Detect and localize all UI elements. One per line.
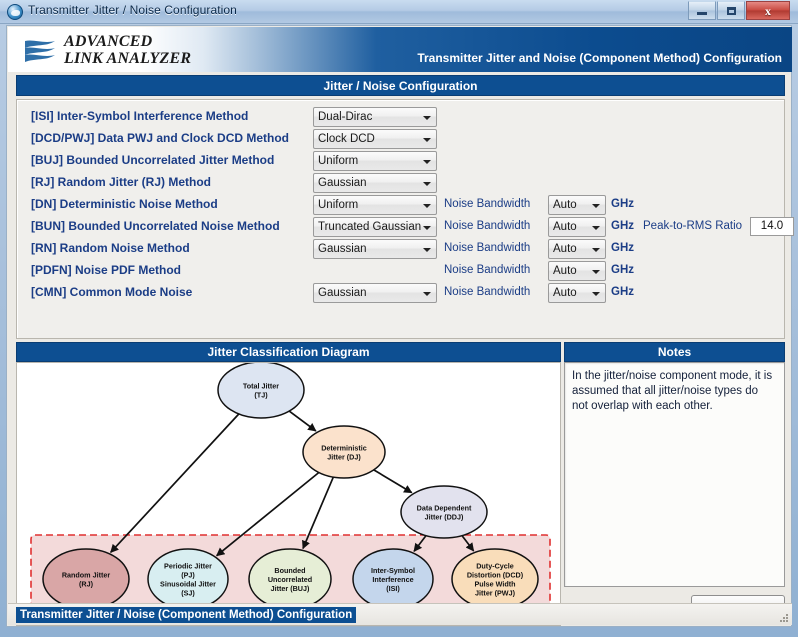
jitter-noise-form-panel: [ISI] Inter-Symbol Interference MethodDu… — [16, 99, 785, 339]
noise-bandwidth-value: Auto — [549, 287, 577, 299]
node-label-line: Duty-Cycle — [476, 562, 514, 571]
header-subtitle: Transmitter Jitter and Noise (Component … — [417, 51, 782, 65]
noise-bandwidth-select[interactable]: Auto — [548, 217, 606, 237]
diagram-node-rj: Random Jitter(RJ) — [43, 549, 129, 609]
method-select[interactable]: Dual-Dirac — [313, 107, 437, 127]
node-label-line: Random Jitter — [62, 571, 111, 580]
ghz-unit-label: GHz — [611, 286, 634, 298]
chevron-down-icon — [592, 226, 600, 230]
chevron-down-icon — [592, 292, 600, 296]
chevron-down-icon — [423, 182, 431, 186]
form-row-label: [PDFN] Noise PDF Method — [31, 263, 181, 277]
brand-header: ADVANCED LINK ANALYZER Transmitter Jitte… — [8, 27, 792, 72]
method-select-value: Clock DCD — [314, 133, 375, 145]
method-select-value: Truncated Gaussian — [314, 221, 421, 233]
maximize-button[interactable] — [717, 1, 745, 20]
chevron-down-icon — [592, 270, 600, 274]
section-header-notes: Notes — [564, 342, 785, 362]
form-row-label: [RN] Random Noise Method — [31, 241, 190, 255]
noise-bandwidth-label: Noise Bandwidth — [444, 286, 530, 298]
resize-grip[interactable] — [778, 612, 788, 622]
chevron-down-icon — [423, 138, 431, 142]
diagram-node-buj: BoundedUncorrelatedJitter (BUJ) — [249, 549, 331, 609]
close-button[interactable]: x — [746, 1, 790, 20]
ghz-unit-label: GHz — [611, 264, 634, 276]
form-row-label: [BUJ] Bounded Uncorrelated Jitter Method — [31, 153, 274, 167]
form-row-label: [DN] Deterministic Noise Method — [31, 197, 218, 211]
noise-bandwidth-label: Noise Bandwidth — [444, 220, 530, 232]
form-row: [PDFN] Noise PDF MethodNoise BandwidthAu… — [17, 260, 784, 282]
form-row: [RN] Random Noise MethodGaussianNoise Ba… — [17, 238, 784, 260]
ghz-unit-label: GHz — [611, 198, 634, 210]
ghz-unit-label: GHz — [611, 220, 634, 232]
method-select[interactable]: Truncated Gaussian — [313, 217, 437, 237]
form-row: [RJ] Random Jitter (RJ) MethodGaussian — [17, 172, 784, 194]
noise-bandwidth-select[interactable]: Auto — [548, 239, 606, 259]
node-label-line: Total Jitter — [243, 382, 279, 391]
form-row: [BUN] Bounded Uncorrelated Noise MethodT… — [17, 216, 784, 238]
window-title: Transmitter Jitter / Noise Configuration — [28, 3, 237, 17]
dialog-client-area: ADVANCED LINK ANALYZER Transmitter Jitte… — [6, 25, 792, 627]
diagram-edge — [373, 470, 412, 493]
window-titlebar[interactable]: Transmitter Jitter / Noise Configuration… — [0, 0, 798, 24]
close-icon: x — [765, 5, 771, 17]
node-label-line: Interference — [372, 575, 413, 584]
node-label-line: Uncorrelated — [268, 575, 312, 584]
noise-bandwidth-value: Auto — [549, 221, 577, 233]
form-row: [DCD/PWJ] Data PWJ and Clock DCD MethodC… — [17, 128, 784, 150]
node-label-line: Jitter (BUJ) — [271, 584, 310, 593]
method-select-value: Uniform — [314, 155, 358, 167]
node-label-line: Deterministic — [321, 444, 367, 453]
method-select-value: Gaussian — [314, 177, 367, 189]
noise-bandwidth-value: Auto — [549, 199, 577, 211]
logo-line-1: ADVANCED — [64, 33, 191, 50]
form-row-label: [RJ] Random Jitter (RJ) Method — [31, 175, 211, 189]
statusbar: Transmitter Jitter / Noise (Component Me… — [8, 603, 792, 625]
form-row: [CMN] Common Mode NoiseGaussianNoise Ban… — [17, 282, 784, 304]
diagram-nodes: Total Jitter(TJ)DeterministicJitter (DJ)… — [43, 363, 538, 609]
minimize-button[interactable] — [688, 1, 716, 20]
method-select[interactable]: Clock DCD — [313, 129, 437, 149]
chevron-down-icon — [423, 160, 431, 164]
ghz-unit-label: GHz — [611, 242, 634, 254]
logo-line-2: LINK ANALYZER — [64, 50, 191, 67]
form-row: [ISI] Inter-Symbol Interference MethodDu… — [17, 106, 784, 128]
diagram-edge — [111, 413, 240, 552]
method-select[interactable]: Gaussian — [313, 173, 437, 193]
noise-bandwidth-select[interactable]: Auto — [548, 283, 606, 303]
node-label-line: Pulse Width — [474, 580, 515, 589]
form-row: [DN] Deterministic Noise MethodUniformNo… — [17, 194, 784, 216]
node-label-line: (TJ) — [254, 391, 268, 400]
node-label-line: (ISI) — [386, 584, 400, 593]
section-header-jitter-classification-diagram: Jitter Classification Diagram — [16, 342, 561, 362]
node-label-line: Periodic Jitter — [164, 562, 212, 571]
diagram-node-ddj: Data DependentJitter (DDJ) — [401, 486, 487, 538]
noise-bandwidth-label: Noise Bandwidth — [444, 264, 530, 276]
chevron-down-icon — [423, 292, 431, 296]
logo: ADVANCED LINK ANALYZER — [24, 31, 224, 69]
node-label-line: Inter-Symbol — [371, 566, 415, 575]
application-window: Transmitter Jitter / Noise Configuration… — [0, 0, 798, 637]
node-label-line: (PJ) — [181, 571, 195, 580]
noise-bandwidth-select[interactable]: Auto — [548, 261, 606, 281]
chevron-down-icon — [423, 248, 431, 252]
node-label-line: Bounded — [274, 566, 305, 575]
notes-text: In the jitter/noise component mode, it i… — [572, 369, 777, 414]
node-label-line: (RJ) — [79, 580, 94, 589]
node-label-line: Data Dependent — [417, 504, 472, 513]
method-select[interactable]: Gaussian — [313, 283, 437, 303]
node-label-line: (SJ) — [181, 589, 195, 598]
method-select-value: Gaussian — [314, 243, 367, 255]
noise-bandwidth-label: Noise Bandwidth — [444, 242, 530, 254]
chevron-down-icon — [423, 226, 431, 230]
diagram-edge — [289, 411, 316, 431]
diagram-node-tj: Total Jitter(TJ) — [218, 363, 304, 418]
noise-bandwidth-select[interactable]: Auto — [548, 195, 606, 215]
method-select-value: Dual-Dirac — [314, 111, 372, 123]
method-select-value: Uniform — [314, 199, 358, 211]
method-select[interactable]: Uniform — [313, 151, 437, 171]
globe-icon — [7, 4, 23, 20]
node-label-line: Jitter (DJ) — [327, 453, 361, 462]
node-label-line: Distortion (DCD) — [467, 571, 524, 580]
diagram-node-pwj: Duty-CycleDistortion (DCD)Pulse WidthJit… — [452, 549, 538, 609]
waves-logo-icon — [24, 37, 58, 63]
form-row: [BUJ] Bounded Uncorrelated Jitter Method… — [17, 150, 784, 172]
chevron-down-icon — [592, 248, 600, 252]
statusbar-text: Transmitter Jitter / Noise (Component Me… — [16, 607, 356, 623]
section-header-jitter-noise-configuration: Jitter / Noise Configuration — [16, 75, 785, 96]
method-select[interactable]: Gaussian — [313, 239, 437, 259]
notes-panel: In the jitter/noise component mode, it i… — [564, 362, 785, 587]
diagram-node-sj: Periodic Jitter(PJ)Sinusoidal Jitter(SJ) — [148, 549, 228, 609]
form-row-label: [DCD/PWJ] Data PWJ and Clock DCD Method — [31, 131, 289, 145]
chevron-down-icon — [592, 204, 600, 208]
method-select[interactable]: Uniform — [313, 195, 437, 215]
chevron-down-icon — [423, 204, 431, 208]
node-label-line: Sinusoidal Jitter — [160, 580, 216, 589]
form-row-label: [BUN] Bounded Uncorrelated Noise Method — [31, 219, 280, 233]
noise-bandwidth-value: Auto — [549, 243, 577, 255]
minimize-icon — [697, 12, 707, 15]
diagram-canvas: Total Jitter(TJ)DeterministicJitter (DJ)… — [17, 363, 560, 625]
diagram-node-isi: Inter-SymbolInterference(ISI) — [353, 549, 433, 609]
maximize-icon — [727, 7, 736, 15]
diagram-node-dj: DeterministicJitter (DJ) — [303, 426, 385, 478]
logo-text: ADVANCED LINK ANALYZER — [64, 33, 191, 67]
chevron-down-icon — [423, 116, 431, 120]
form-row-label: [CMN] Common Mode Noise — [31, 285, 192, 299]
peak-to-rms-ratio-label: Peak-to-RMS Ratio — [643, 220, 742, 232]
node-label-line: Jitter (DDJ) — [425, 513, 464, 522]
peak-to-rms-ratio-input[interactable]: 14.0 — [750, 217, 794, 236]
node-label-line: Jitter (PWJ) — [475, 589, 516, 598]
form-row-label: [ISI] Inter-Symbol Interference Method — [31, 109, 248, 123]
jitter-classification-diagram: Total Jitter(TJ)DeterministicJitter (DJ)… — [16, 362, 561, 626]
method-select-value: Gaussian — [314, 287, 367, 299]
noise-bandwidth-label: Noise Bandwidth — [444, 198, 530, 210]
noise-bandwidth-value: Auto — [549, 265, 577, 277]
